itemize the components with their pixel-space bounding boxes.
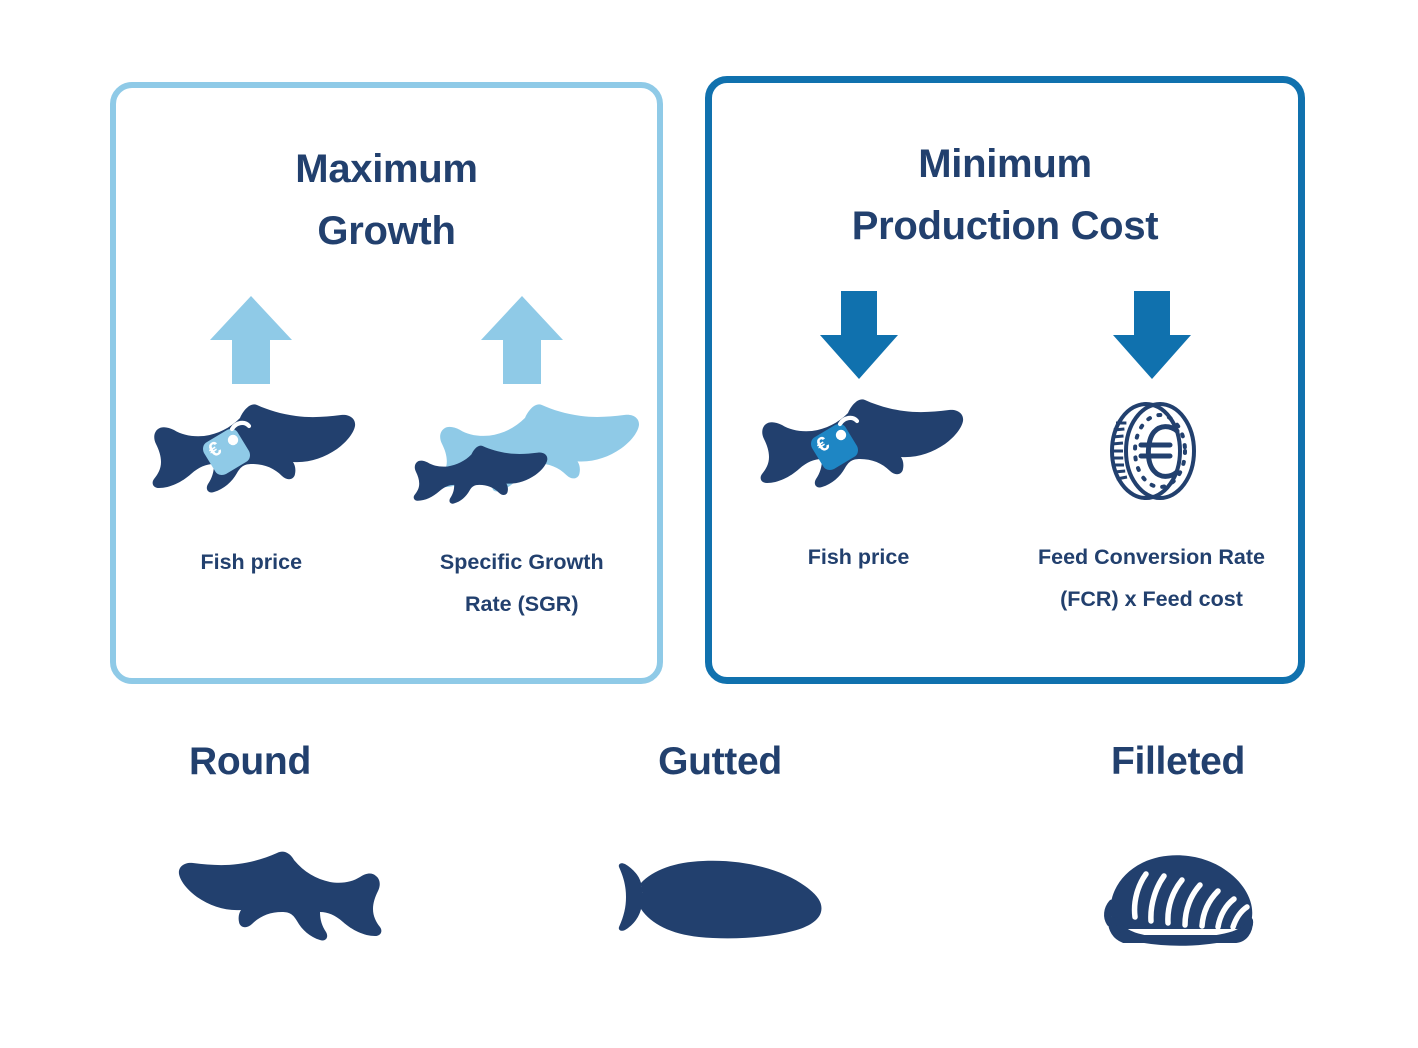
product-form-title-round: Round [189, 740, 311, 784]
arrow-down-container-2 [1111, 285, 1193, 381]
card-title-maximum-growth: Maximum Growth [116, 138, 657, 262]
arrow-up-icon [479, 294, 565, 386]
arrow-down-icon [818, 289, 900, 381]
arrow-down-container-1 [818, 285, 900, 381]
label-line-1: Specific Growth [387, 542, 658, 584]
product-form-round: Round [10, 740, 490, 968]
column-specific-growth-rate: Specific Growth Rate (SGR) [387, 290, 658, 626]
arrow-up-icon [208, 294, 294, 386]
arrow-up-container-1 [208, 290, 294, 386]
card-columns-maximum-growth: € Fish price [116, 290, 657, 626]
fish-with-price-tag-container-2: € [752, 391, 966, 511]
product-forms-row: Round Gutted Filleted [0, 740, 1418, 968]
card-minimum-production-cost: Minimum Production Cost [705, 76, 1305, 684]
label-fish-price-growth: Fish price [116, 542, 387, 584]
card-columns-minimum-production-cost: € Fish price [712, 285, 1298, 621]
arrow-up-container-2 [479, 290, 565, 386]
card-maximum-growth: Maximum Growth [110, 82, 663, 684]
label-specific-growth-rate: Specific Growth Rate (SGR) [387, 542, 658, 626]
euro-coin-icon [1094, 393, 1210, 509]
product-form-title-filleted: Filleted [1111, 740, 1245, 784]
label-feed-conversion-rate: Feed Conversion Rate (FCR) x Feed cost [1005, 537, 1298, 621]
fish-with-price-tag-icon: € [144, 402, 358, 510]
fish-with-price-tag-icon: € [752, 397, 966, 505]
column-feed-conversion-rate: Feed Conversion Rate (FCR) x Feed cost [1005, 285, 1298, 621]
product-form-title-gutted: Gutted [658, 740, 782, 784]
infographic-canvas: Maximum Growth [0, 0, 1418, 1048]
label-line-2: Rate (SGR) [387, 584, 658, 626]
product-form-gutted: Gutted [480, 740, 960, 968]
label-line-2: (FCR) x Feed cost [1005, 579, 1298, 621]
label-fish-price-cost: Fish price [712, 537, 1005, 579]
label-line-1: Fish price [116, 542, 387, 584]
label-line-1: Fish price [712, 537, 1005, 579]
label-line-1: Feed Conversion Rate [1005, 537, 1298, 579]
fish-with-price-tag-container-1: € [144, 396, 358, 516]
arrow-down-icon [1111, 289, 1193, 381]
column-fish-price-growth: € Fish price [116, 290, 387, 626]
fish-fillet-icon [1088, 843, 1268, 953]
two-fish-growth-icon [404, 400, 640, 512]
card-title-minimum-production-cost: Minimum Production Cost [712, 133, 1298, 257]
card-title-line-1: Maximum [116, 138, 657, 200]
euro-coin-container [1094, 391, 1210, 511]
card-title-line-1: Minimum [712, 133, 1298, 195]
two-fish-growth-container [404, 396, 640, 516]
gutted-fish-icon [605, 848, 835, 948]
card-title-line-2: Growth [116, 200, 657, 262]
round-fish-container [110, 828, 390, 968]
product-form-filleted: Filleted [938, 740, 1418, 968]
gutted-fish-container [605, 828, 835, 968]
card-title-line-2: Production Cost [712, 195, 1298, 257]
fish-fillet-container [1088, 828, 1268, 968]
round-fish-icon [110, 838, 390, 958]
column-fish-price-cost: € Fish price [712, 285, 1005, 621]
